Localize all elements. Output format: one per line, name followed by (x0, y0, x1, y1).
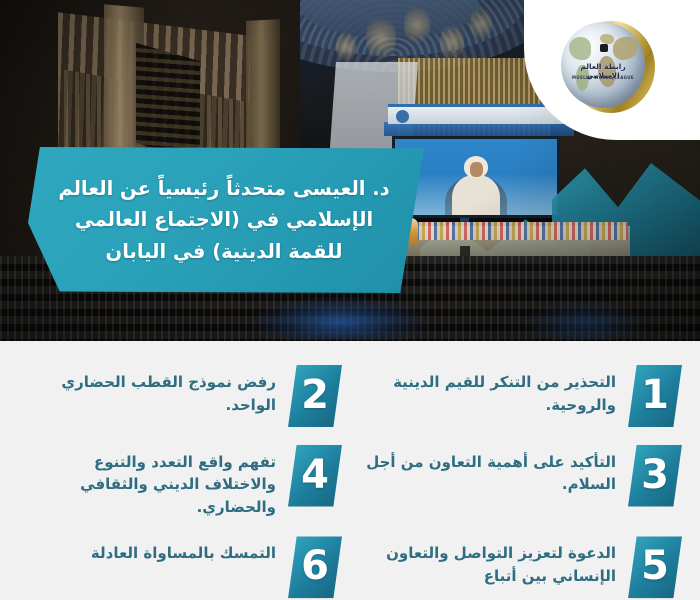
continent-shape (569, 37, 591, 59)
point-number-badge: 4 (288, 445, 342, 507)
continent-shape (600, 34, 614, 44)
globe-icon: رابطة العالم الإسلامي MUSLIM WORLD LEAGU… (561, 22, 645, 108)
point-number: 1 (641, 375, 669, 415)
point-number-badge: 1 (628, 365, 682, 427)
list-item: 6 التمسك بالمساواة العادلة (18, 536, 342, 600)
speaker-body (452, 175, 500, 215)
kaaba-marker-icon (600, 44, 608, 52)
list-item: 3 التأكيد على أهمية التعاون من أجل السلا… (358, 445, 682, 521)
stage-light-glow-secondary (520, 300, 650, 340)
point-number-badge: 2 (288, 365, 342, 427)
point-text: التأكيد على أهمية التعاون من أجل السلام. (358, 445, 616, 497)
headline-text: د. العيسى متحدثاً رئيسياً عن العالم الإس… (54, 173, 394, 268)
muslim-world-league-logo-icon: رابطة العالم الإسلامي MUSLIM WORLD LEAGU… (561, 19, 657, 115)
chandelier-icon (404, 4, 430, 46)
chandelier-icon (440, 22, 464, 62)
point-text: التمسك بالمساواة العادلة (18, 536, 276, 565)
point-number-badge: 3 (628, 445, 682, 507)
point-number: 2 (301, 375, 329, 415)
point-number-badge: 6 (288, 536, 342, 598)
point-text: رفض نموذج القطب الحضاري الواحد. (18, 365, 276, 417)
list-item: 4 تفهم واقع التعدد والتنوع والاختلاف الد… (18, 445, 342, 521)
list-item: 2 رفض نموذج القطب الحضاري الواحد. (18, 365, 342, 429)
stage-logo-bar (388, 104, 564, 124)
infographic-poster: رابطة العالم الإسلامي MUSLIM WORLD LEAGU… (0, 0, 700, 600)
point-number: 3 (641, 455, 669, 495)
point-text: تفهم واقع التعدد والتنوع والاختلاف الدين… (18, 445, 276, 519)
point-number: 4 (301, 455, 329, 495)
list-item: 1 التحذير من التنكر للقيم الدينية والروح… (358, 365, 682, 429)
headline-banner: د. العيسى متحدثاً رئيسياً عن العالم الإس… (28, 147, 424, 293)
point-number: 6 (301, 546, 329, 586)
staircase (136, 43, 200, 161)
point-text: الدعوة لتعزيز التواصل والتعاون الإنساني … (358, 536, 616, 588)
chandelier-icon (470, 6, 492, 42)
logo-name-english: MUSLIM WORLD LEAGUE (566, 75, 640, 80)
chandelier-icon (366, 14, 396, 62)
chandelier-icon (336, 30, 356, 64)
points-list: 1 التحذير من التنكر للقيم الدينية والروح… (0, 341, 700, 600)
point-number-badge: 5 (628, 536, 682, 598)
list-item: 5 الدعوة لتعزيز التواصل والتعاون الإنسان… (358, 536, 682, 600)
continent-shape (613, 37, 638, 59)
stage-light-glow (250, 296, 430, 340)
stage-blue-band (384, 122, 574, 136)
point-number: 5 (641, 546, 669, 586)
speaker-face (470, 162, 483, 177)
point-text: التحذير من التنكر للقيم الدينية والروحية… (358, 365, 616, 417)
